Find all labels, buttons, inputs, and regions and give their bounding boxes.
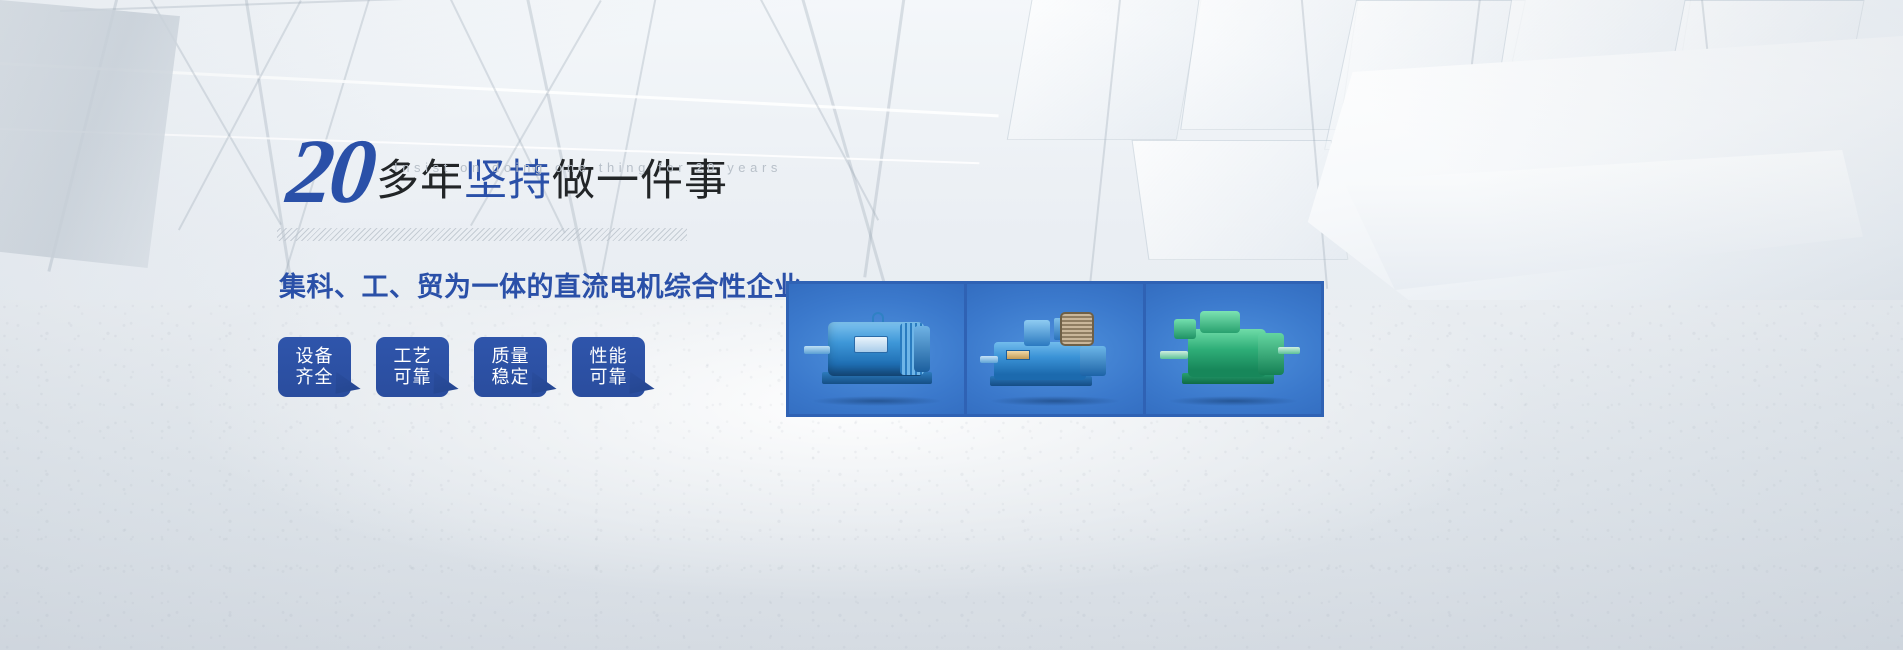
badge-line1: 设备 <box>296 346 334 367</box>
badge-line2: 可靠 <box>590 367 628 388</box>
product-cell-blue-dc-motor[interactable] <box>789 284 964 414</box>
badge-line1: 质量 <box>492 346 530 367</box>
product-cell-green-gear-motor[interactable] <box>1143 284 1321 414</box>
product-cell-blue-motor-with-blower[interactable] <box>964 284 1142 414</box>
feature-badge[interactable]: 质量 稳定 <box>474 337 547 397</box>
badge-line2: 齐全 <box>296 367 334 388</box>
badge-line1: 工艺 <box>394 346 432 367</box>
feature-badge-list: 设备 齐全 工艺 可靠 质量 稳定 <box>278 337 645 397</box>
headline-number: 20 <box>283 128 376 214</box>
hero-copy-column: 20多年坚持做一件事 Insist on doing one thing for… <box>0 0 800 650</box>
feature-badge[interactable]: 工艺 可靠 <box>376 337 449 397</box>
badge-line2: 稳定 <box>492 367 530 388</box>
blue-motor-with-blower-icon <box>980 308 1130 390</box>
hatched-divider <box>277 228 687 241</box>
hero-banner: 20多年坚持做一件事 Insist on doing one thing for… <box>0 0 1903 650</box>
product-shadow <box>989 396 1121 406</box>
feature-badge[interactable]: 性能 可靠 <box>572 337 645 397</box>
subtitle: 集科、工、贸为一体的直流电机综合性企业 <box>279 265 802 304</box>
feature-badge[interactable]: 设备 齐全 <box>278 337 351 397</box>
english-tagline: Insist on doing one thing for 20 years <box>394 160 782 175</box>
badge-line2: 可靠 <box>394 367 432 388</box>
badge-line1: 性能 <box>590 346 628 367</box>
green-gear-motor-icon <box>1158 307 1308 391</box>
product-showcase-panel <box>786 281 1324 417</box>
blue-dc-motor-icon <box>802 310 952 388</box>
product-shadow <box>811 396 943 406</box>
product-shadow <box>1167 396 1299 406</box>
